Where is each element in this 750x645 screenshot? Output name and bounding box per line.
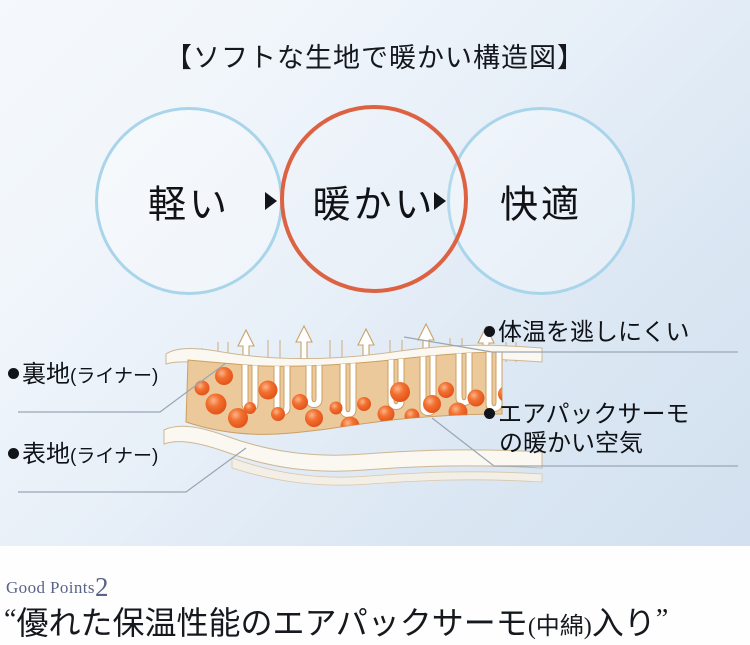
- good-points-label: Good Points: [6, 578, 95, 597]
- callout-airpack-thermo-text: エアパックサーモ: [498, 401, 690, 428]
- page-title: 【ソフトな生地で暖かい構造図】: [0, 36, 750, 75]
- callout-lining: 裏地(ライナー): [8, 360, 158, 389]
- arrow-right-icon-1: [265, 192, 277, 210]
- benefit-label-light: 軽い: [95, 174, 283, 229]
- infographic-root: 【ソフトな生地で暖かい構造図】 軽い 暖かい 快適: [0, 0, 750, 645]
- callout-shell: 表地(ライナー): [8, 440, 158, 469]
- footer-headline: “優れた保温性能のエアパックサーモ(中綿)入り”: [4, 598, 748, 644]
- callout-heat-retention: 体温を逃しにくい: [484, 318, 690, 347]
- callout-shell-text: 表地: [22, 441, 70, 468]
- headline-paren: (中綿): [528, 614, 592, 640]
- bullet-icon: [484, 408, 495, 419]
- callout-airpack-thermo-text-line2: の暖かい空気: [484, 429, 690, 458]
- quote-open: “: [4, 604, 16, 635]
- benefit-label-comfort: 快適: [447, 174, 635, 229]
- arrow-right-icon-2: [434, 192, 446, 210]
- callout-lining-suffix: (ライナー): [70, 366, 158, 387]
- callout-heat-retention-text: 体温を逃しにくい: [498, 319, 690, 346]
- bullet-icon: [8, 368, 19, 379]
- callout-lining-text: 裏地: [22, 361, 70, 388]
- callout-shell-suffix: (ライナー): [70, 446, 158, 467]
- callout-airpack-thermo: エアパックサーモ の暖かい空気: [484, 400, 690, 459]
- bullet-icon: [8, 448, 19, 459]
- headline-part1: 優れた保温性能のエアパックサーモ: [16, 605, 527, 641]
- bullet-icon: [484, 326, 495, 337]
- headline-part2: 入り: [592, 605, 656, 641]
- quote-close: ”: [656, 604, 668, 635]
